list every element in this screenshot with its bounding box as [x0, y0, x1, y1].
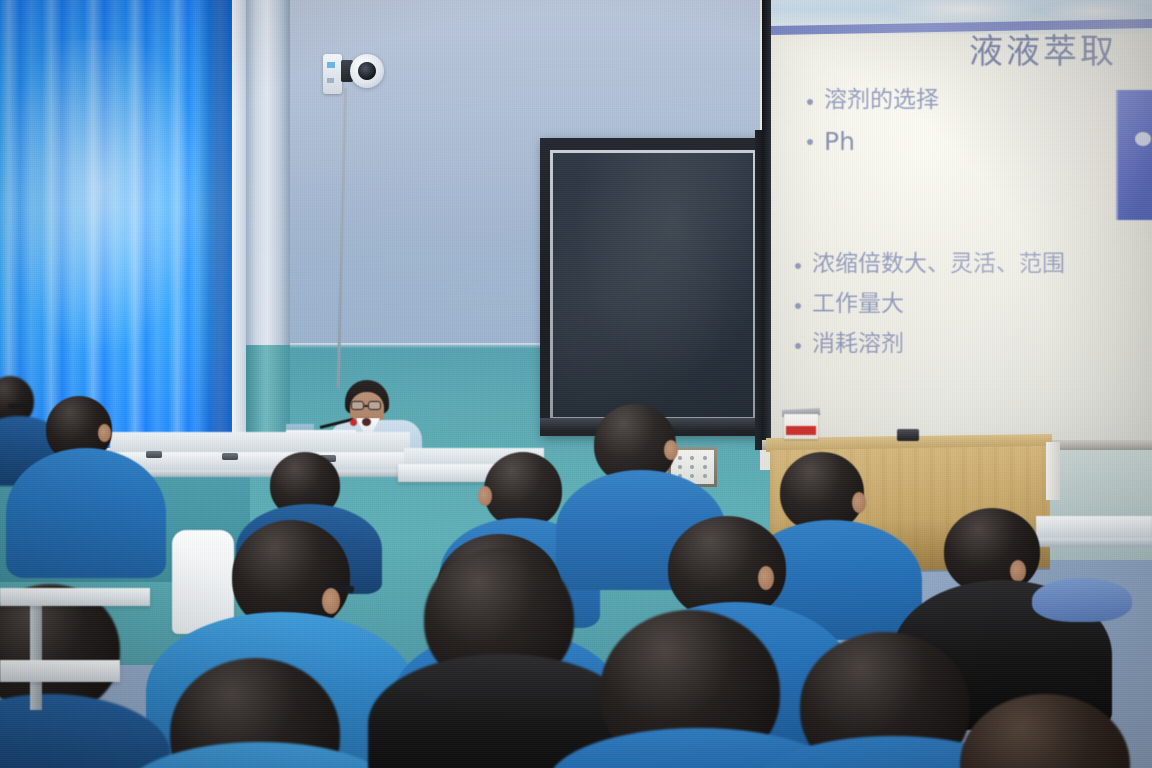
- student-ear: [664, 440, 678, 460]
- podium-remote-device: [897, 429, 919, 441]
- bullet-dot-icon: [795, 263, 801, 269]
- presenter-eyeglasses-bridge: [364, 405, 368, 407]
- student-ear: [852, 492, 866, 513]
- bullet-dot-icon: [807, 99, 813, 105]
- curtain-backlight-glow: [10, 40, 210, 370]
- slide-bullet: Ph: [807, 126, 1107, 157]
- podium-side-panel: [1046, 442, 1060, 500]
- microphone-head-icon: [350, 419, 357, 426]
- podium-box-red-label: [786, 426, 816, 435]
- camera-lens-icon: [358, 62, 376, 80]
- bullet-dot-icon: [807, 139, 813, 145]
- camera-mount-body: [323, 54, 342, 94]
- switch-toggle-icon[interactable]: [690, 474, 694, 478]
- switch-toggle-icon[interactable]: [690, 465, 694, 469]
- student-ear: [758, 566, 774, 590]
- desk-latch: [146, 451, 162, 458]
- slide-bullet: 浓缩倍数大、灵活、范围: [795, 250, 1152, 279]
- chair: [1032, 578, 1132, 622]
- desk-edge: [1036, 538, 1152, 547]
- slide-picture-highlight: [1135, 132, 1151, 146]
- switch-toggle-icon[interactable]: [703, 474, 707, 478]
- student-ear: [478, 486, 492, 506]
- projection-screen-left-edge: [762, 0, 771, 448]
- switch-toggle-icon[interactable]: [678, 465, 682, 469]
- slide-bullets-bottom: 浓缩倍数大、灵活、范围 工作量大 消耗溶剂: [795, 250, 1152, 369]
- student-head: [484, 452, 562, 528]
- presenter-mouth: [362, 418, 371, 426]
- projection-screen: 液液萃取 溶剂的选择 Ph 浓缩倍数大、灵活、范围 工作量大: [771, 0, 1152, 446]
- desk-latch: [222, 453, 238, 460]
- slide-bullet-text: 消耗溶剂: [812, 330, 904, 359]
- slide-picture-box: [1116, 90, 1152, 220]
- slide-bullet: 工作量大: [795, 290, 1152, 319]
- slide-bullet-text: Ph: [824, 126, 855, 157]
- student-ear: [1010, 560, 1026, 582]
- classroom-photo: 液液萃取 溶剂的选择 Ph 浓缩倍数大、灵活、范围 工作量大: [0, 0, 1152, 768]
- student-ear: [322, 588, 340, 614]
- student-torso: [0, 694, 170, 768]
- presenter-eyeglasses-icon: [351, 401, 364, 410]
- presenter-eyeglasses-icon: [368, 401, 381, 410]
- slide-bullet-text: 溶剂的选择: [824, 86, 939, 115]
- eyeglasses-icon: [8, 404, 30, 408]
- switch-toggle-icon[interactable]: [703, 456, 707, 460]
- slide-bullet: 消耗溶剂: [795, 330, 1152, 359]
- blackboard-surface: [553, 153, 753, 417]
- switch-toggle-icon[interactable]: [703, 465, 707, 469]
- switch-toggle-icon[interactable]: [690, 456, 694, 460]
- bullet-dot-icon: [795, 303, 801, 309]
- desk-leg: [30, 600, 42, 710]
- camera-label-icon: [327, 78, 334, 83]
- slide-bullet: 溶剂的选择: [807, 86, 1107, 115]
- switch-toggle-icon[interactable]: [678, 456, 682, 460]
- desk: [0, 660, 120, 682]
- wall-pillar: [246, 0, 290, 352]
- camera-indicator-icon: [327, 62, 335, 68]
- curtain-fold-shadow: [196, 0, 236, 452]
- student-torso: [6, 448, 166, 578]
- desk: [0, 588, 150, 606]
- bullet-dot-icon: [795, 343, 801, 349]
- student-ear: [98, 424, 111, 442]
- slide-bullet-text: 工作量大: [812, 290, 904, 319]
- desk: [1036, 516, 1152, 540]
- slide-bullet-text: 浓缩倍数大、灵活、范围: [812, 250, 1065, 279]
- slide-bullets-top: 溶剂的选择 Ph: [807, 86, 1107, 168]
- slide-title: 液液萃取: [969, 24, 1152, 73]
